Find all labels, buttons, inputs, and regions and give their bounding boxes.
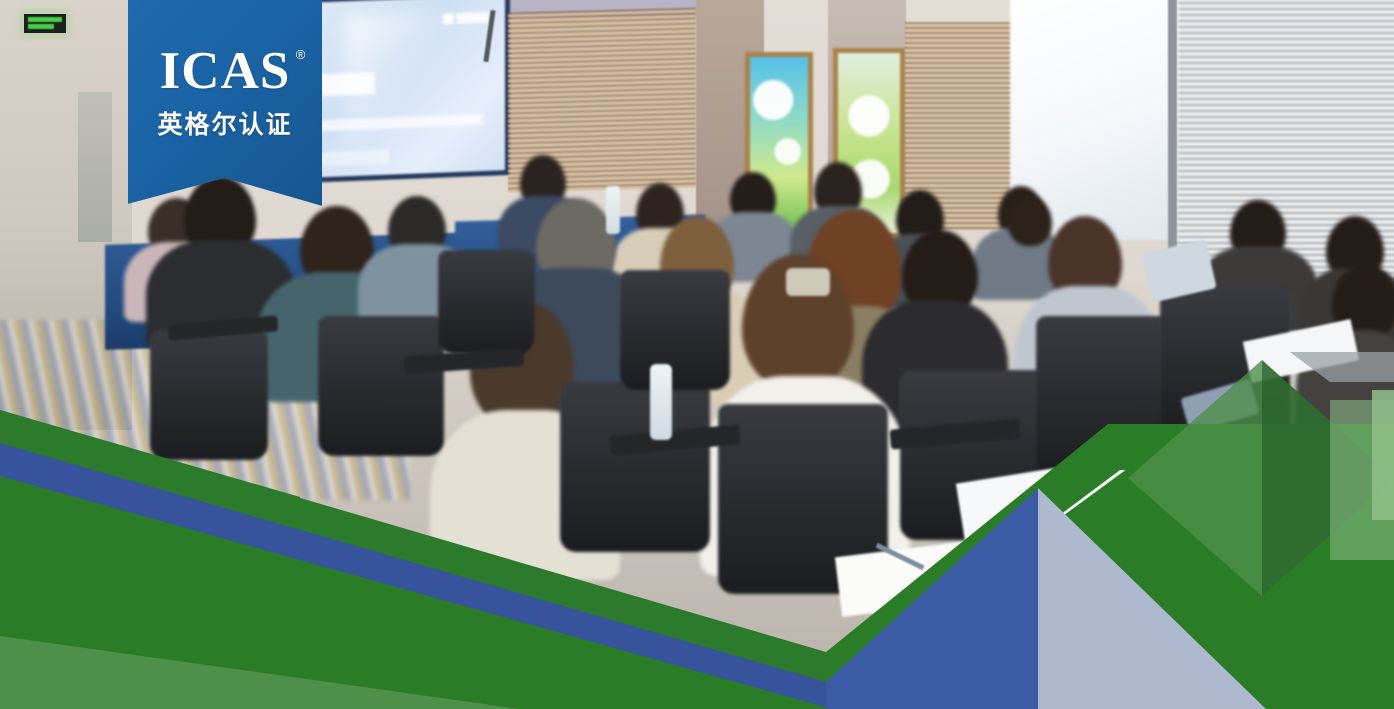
chair xyxy=(560,382,710,552)
banner-canvas: ICAS ® 英格尔认证 xyxy=(0,0,1394,709)
chair xyxy=(150,330,268,460)
water-bottle xyxy=(606,186,620,234)
attendee-head xyxy=(1008,196,1052,246)
door-panel xyxy=(78,92,112,242)
brand-wordmark-text: ICAS xyxy=(160,42,291,100)
slide-headline-blur xyxy=(315,72,375,96)
water-bottle xyxy=(650,364,672,440)
chair xyxy=(620,270,730,390)
chair xyxy=(1036,316,1176,476)
slide-logo-mark xyxy=(443,12,489,25)
presentation-screen xyxy=(300,0,510,183)
hair-clip xyxy=(786,268,830,296)
icas-logo-banner: ICAS ® 英格尔认证 xyxy=(128,0,322,208)
chair xyxy=(438,250,534,354)
chair xyxy=(318,316,444,456)
exit-sign-icon xyxy=(22,12,68,35)
registered-trademark-icon: ® xyxy=(296,48,307,61)
brand-chinese-name: 英格尔认证 xyxy=(157,105,292,141)
brand-wordmark: ICAS ® xyxy=(160,46,291,98)
slide-footer-blur xyxy=(315,150,389,167)
